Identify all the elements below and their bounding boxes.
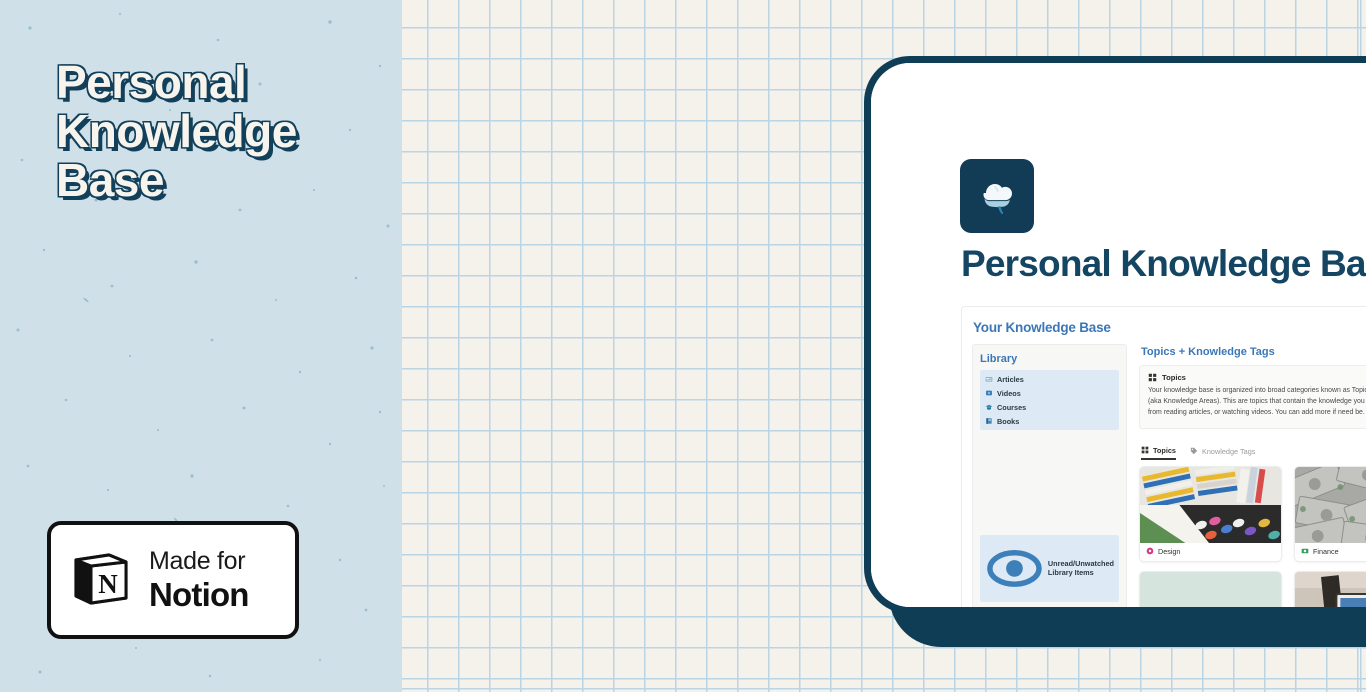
library-item-articles[interactable]: Articles <box>980 372 1119 386</box>
money-icon <box>1301 547 1309 555</box>
library-item-label: Videos <box>997 389 1021 398</box>
container-heading: Your Knowledge Base <box>973 320 1366 335</box>
page-title: Personal Knowledge Base <box>961 243 1366 285</box>
device-mockup-frame: Personal Knowledge Base Your Knowledge B… <box>864 56 1366 614</box>
library-item-videos[interactable]: Videos <box>980 386 1119 400</box>
topics-column: Topics + Knowledge Tags <box>1139 344 1366 607</box>
newspaper-icon <box>985 375 993 383</box>
left-promo-panel: Personal Knowledge Base N Made for Notio… <box>0 0 402 692</box>
gallery-card-design[interactable]: Design <box>1139 466 1282 562</box>
info-card-body: Your knowledge base is organized into br… <box>1148 385 1366 419</box>
gallery-card-row2-1[interactable] <box>1139 571 1282 607</box>
laptop-desk-photo <box>1295 572 1366 607</box>
color-swatches-photo <box>1140 467 1281 543</box>
badge-made-for-label: Made for <box>149 549 249 574</box>
tab-label: Knowledge Tags <box>1202 447 1255 456</box>
topics-info-card: Topics Your knowledge base is organized … <box>1139 365 1366 429</box>
grid-database-icon <box>1141 446 1149 454</box>
tab-label: Topics <box>1153 446 1176 455</box>
video-icon <box>985 389 993 397</box>
tab-topics[interactable]: Topics <box>1141 446 1176 460</box>
gallery-card-row2-2[interactable] <box>1294 571 1366 607</box>
topics-gallery-row-1: Design <box>1139 466 1366 562</box>
unread-library-items-row[interactable]: Unread/Unwatched Library Items <box>980 535 1119 602</box>
device-screen: Personal Knowledge Base Your Knowledge B… <box>871 63 1366 607</box>
grid-database-icon <box>1148 373 1157 382</box>
library-item-books[interactable]: Books <box>980 414 1119 428</box>
knowledge-base-container: Your Knowledge Base Library <box>961 306 1366 607</box>
library-item-label: Courses <box>997 403 1026 412</box>
book-icon <box>985 417 993 425</box>
library-item-courses[interactable]: Courses <box>980 400 1119 414</box>
topics-gallery-row-2 <box>1139 571 1366 607</box>
notion-cube-icon: N <box>69 546 133 615</box>
eye-icon <box>985 539 1044 598</box>
brain-cloud-icon <box>974 173 1020 219</box>
library-item-list: Articles Videos <box>980 370 1119 430</box>
library-heading: Library <box>980 353 1119 365</box>
library-item-label: Articles <box>997 375 1024 384</box>
palette-icon <box>1146 547 1154 555</box>
gallery-card-label: Finance <box>1313 547 1339 556</box>
gallery-card-label: Design <box>1158 547 1180 556</box>
unread-library-items-label: Unread/Unwatched Library Items <box>1048 559 1114 577</box>
badge-notion-label: Notion <box>149 578 249 611</box>
library-column: Library Articles <box>972 344 1127 607</box>
gallery-card-finance[interactable]: Finance <box>1294 466 1366 562</box>
mint-blank-photo <box>1140 572 1281 607</box>
dollar-bills-photo <box>1295 467 1366 543</box>
graduation-icon <box>985 403 993 411</box>
library-item-label: Books <box>997 417 1019 426</box>
svg-text:N: N <box>98 569 118 599</box>
page-icon <box>960 159 1034 233</box>
tag-icon <box>1190 447 1198 455</box>
info-card-title: Topics <box>1162 373 1186 382</box>
made-for-notion-badge: N Made for Notion <box>47 521 299 639</box>
info-card-row: Topics Your knowledge base is organized … <box>1139 365 1366 429</box>
topics-section-heading: Topics + Knowledge Tags <box>1141 346 1366 358</box>
grid-background-panel: Personal Knowledge Base Your Knowledge B… <box>402 0 1366 692</box>
hero-title: Personal Knowledge Base <box>56 58 386 205</box>
tab-knowledge-tags[interactable]: Knowledge Tags <box>1190 447 1255 459</box>
database-view-tabs: Topics Knowledge Tags <box>1141 446 1366 460</box>
